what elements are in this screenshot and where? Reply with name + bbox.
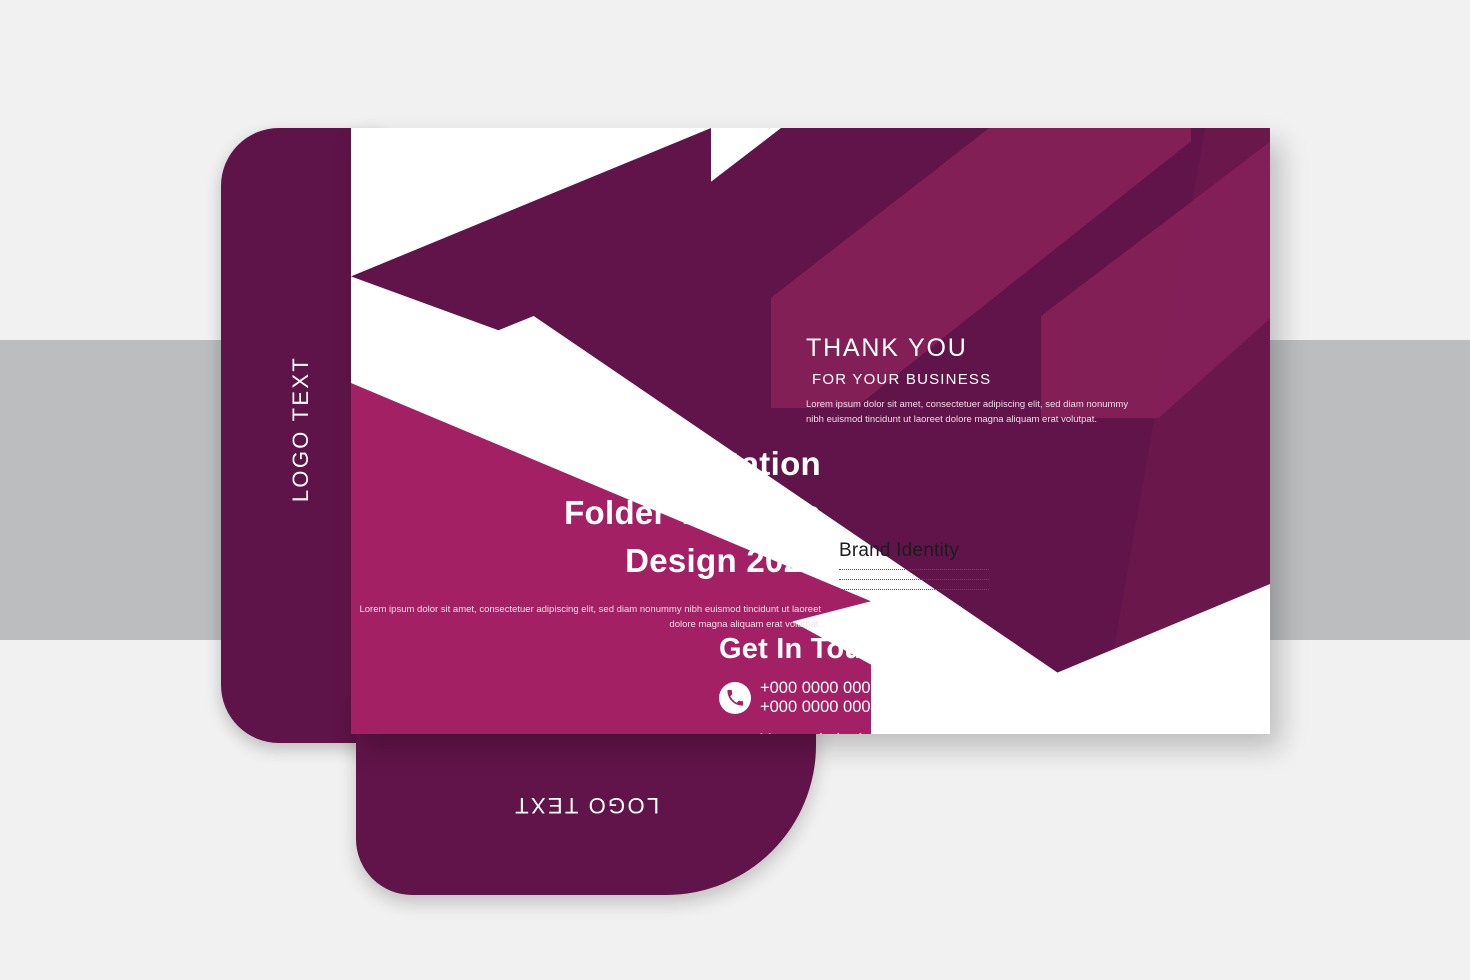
cover-title-block: Presentation Folder Template Design 2023… — [351, 440, 821, 632]
folder-front-cover: THANK YOU FOR YOUR BUSINESS Lorem ipsum … — [351, 128, 1270, 734]
title-body-text: Lorem ipsum dolor sit amet, consectetuer… — [351, 602, 821, 633]
contact-line-2: +000 0000 0000 — [760, 698, 880, 716]
title-line-3: Design 2023 — [351, 537, 821, 586]
thank-you-block: THANK YOU FOR YOUR BUSINESS Lorem ipsum … — [806, 334, 1136, 428]
thank-you-subheading: FOR YOUR BUSINESS — [812, 371, 1136, 388]
contact-line-1: Your website here — [760, 731, 891, 734]
contact-row: Your website here Your mail here — [719, 731, 999, 734]
spine-logo-text: LOGO TEXT — [288, 309, 314, 549]
contact-web-text: Your website here Your mail here — [760, 731, 891, 734]
contact-line-1: +000 0000 0000 — [760, 679, 880, 697]
contact-phone-text: +000 0000 0000 +000 0000 0000 — [760, 679, 880, 718]
bottom-flap-logo-text: LOGO TEXT — [356, 792, 816, 818]
brand-identity-rule — [839, 589, 989, 591]
brand-identity-label: Brand Identity — [839, 540, 999, 562]
contact-row: +000 0000 0000 +000 0000 0000 — [719, 679, 999, 718]
title-line-1: Presentation — [351, 440, 821, 489]
title-line-2: Folder Template — [351, 489, 821, 538]
get-in-touch-heading: Get In Touch — [719, 633, 999, 666]
thank-you-heading: THANK YOU — [806, 334, 1136, 363]
brand-identity-block: Brand Identity — [839, 540, 999, 591]
thank-you-body-text: Lorem ipsum dolor sit amet, consectetuer… — [806, 397, 1136, 428]
phone-icon — [719, 682, 751, 714]
get-in-touch-block: Get In Touch +000 0000 0000 +000 0000 00… — [719, 633, 999, 734]
brand-identity-rule — [839, 569, 989, 571]
design-mockup-canvas: LOGO TEXT LOGO TEXT THANK YOU FOR YOUR B… — [0, 0, 1470, 980]
brand-identity-rule — [839, 579, 989, 581]
